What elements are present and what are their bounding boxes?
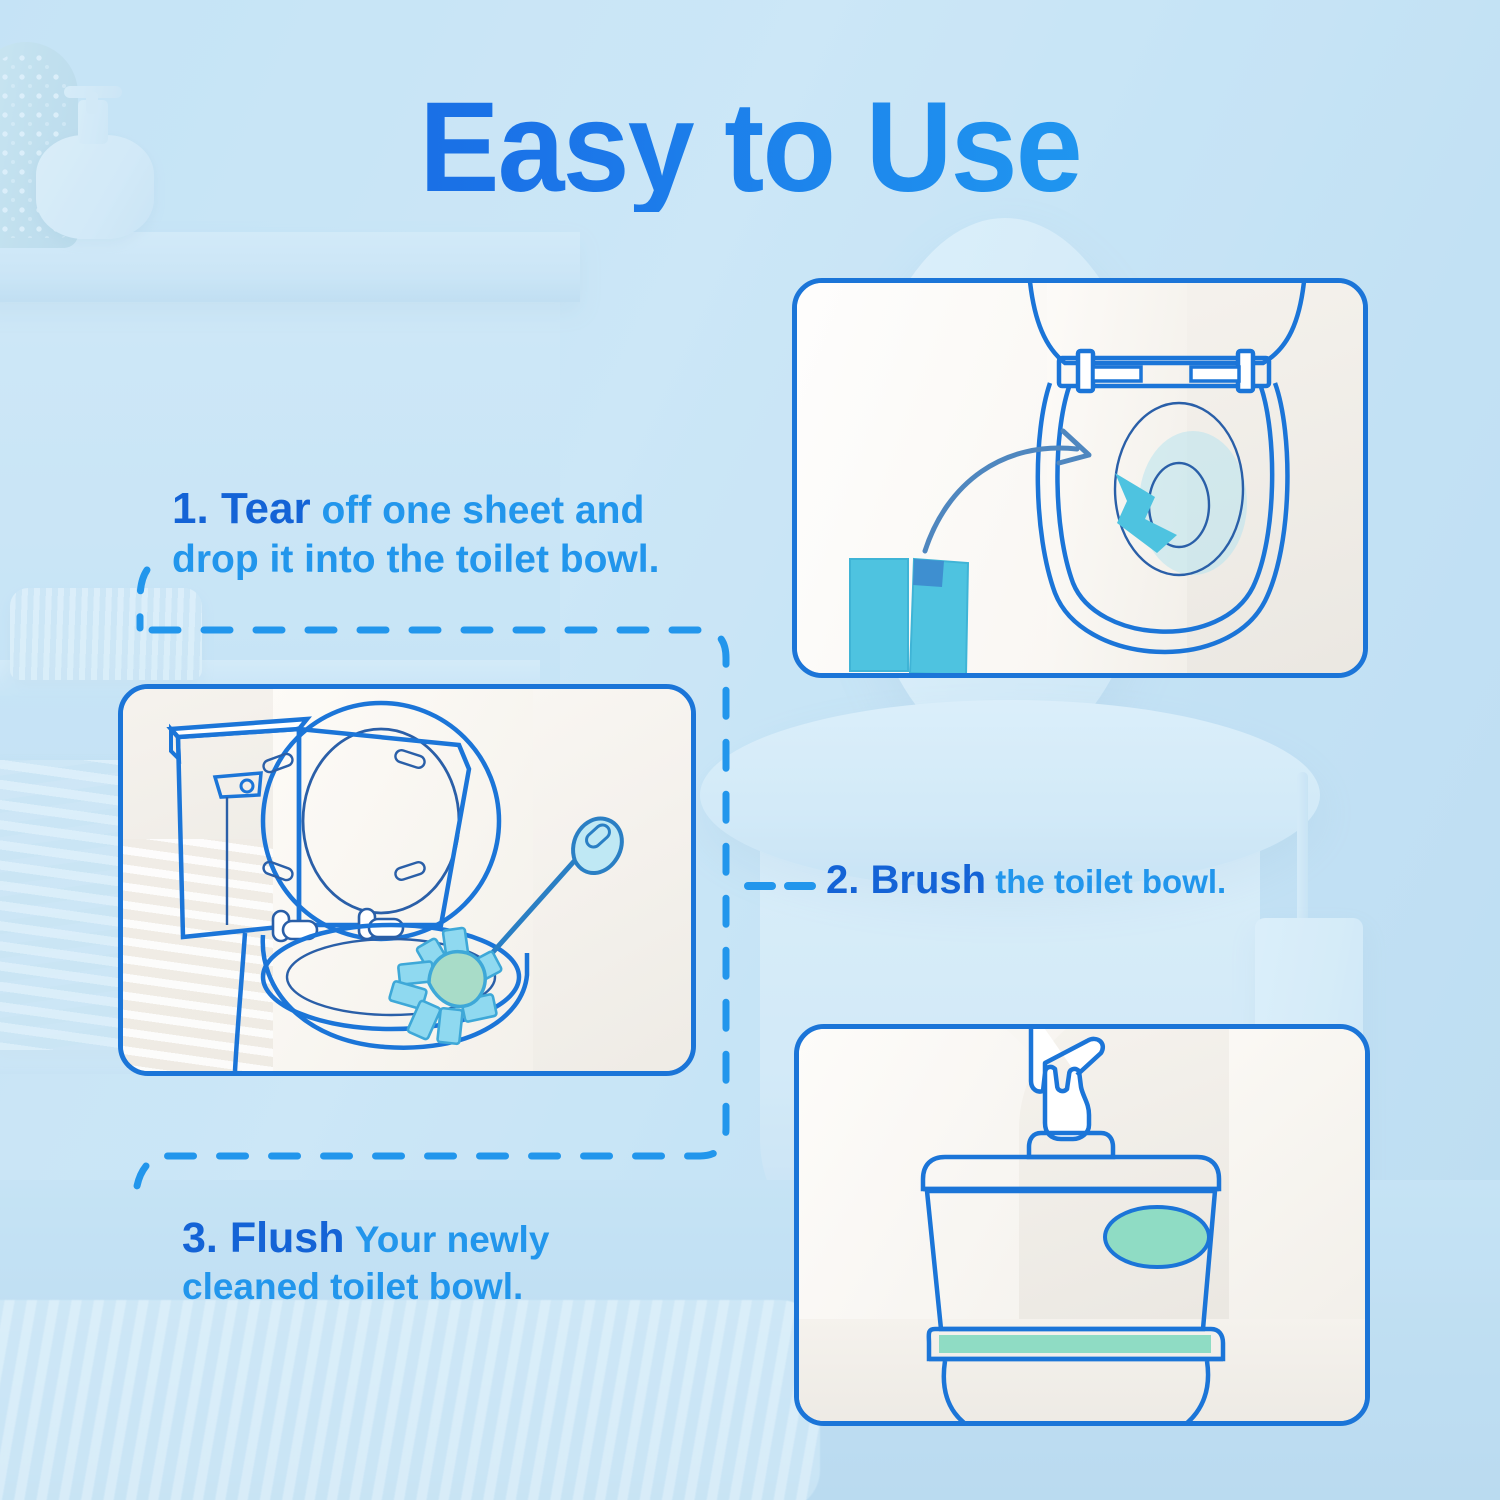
panel-tear-drawing xyxy=(797,283,1363,673)
panel-brush[interactable] xyxy=(118,684,696,1076)
step-2-heading: Brush xyxy=(870,858,986,902)
step-3-number: 3. xyxy=(182,1214,218,1262)
panel-flush-drawing xyxy=(799,1029,1365,1421)
step-3-text: 3. Flush Your newly cleaned toilet bowl. xyxy=(182,1212,652,1310)
step-1-heading: Tear xyxy=(221,484,311,533)
panel-flush[interactable] xyxy=(794,1024,1370,1426)
step-3-heading: Flush xyxy=(230,1214,345,1262)
panel-tear[interactable] xyxy=(792,278,1368,678)
step-2-text: 2. Brush the toilet bowl. xyxy=(826,856,1386,905)
page-title: Easy to Use xyxy=(45,84,1455,212)
panel-brush-drawing xyxy=(123,689,691,1071)
step-2-number: 2. xyxy=(826,858,859,902)
step-1-number: 1. xyxy=(172,484,209,533)
step-2-body: the toilet bowl. xyxy=(995,863,1226,900)
infographic-canvas: Easy to Use xyxy=(0,0,1500,1500)
step-1-text: 1. Tear off one sheet and drop it into t… xyxy=(172,482,712,583)
